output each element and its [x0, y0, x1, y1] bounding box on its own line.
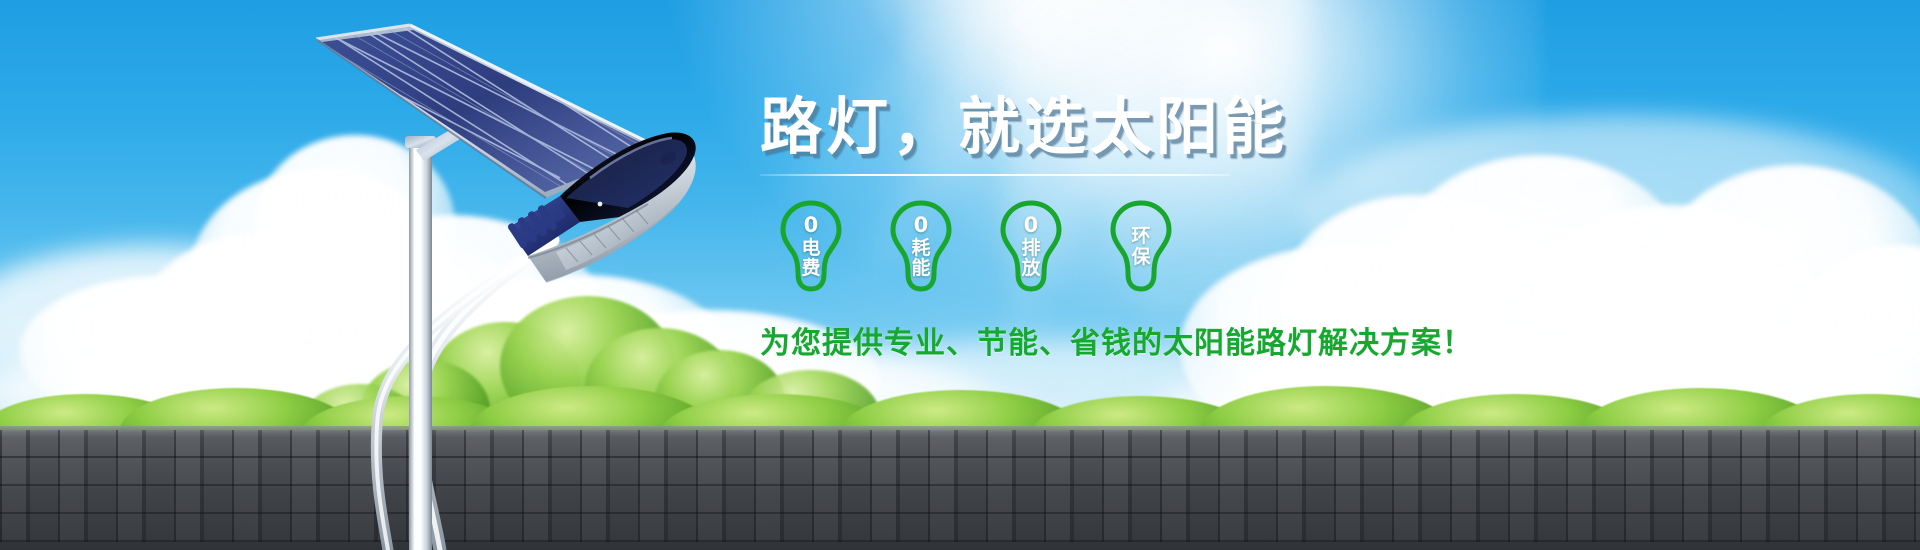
feature-badge: 0 排 放 — [994, 198, 1068, 294]
feature-badge: 0 电 费 — [774, 198, 848, 294]
solar-street-light-banner: 路灯，就选太阳能 0 电 费 0 耗 能 — [0, 0, 1920, 550]
badge-label-top: 排 — [1021, 238, 1040, 258]
badge-label-top: 耗 — [911, 238, 930, 258]
page-title: 路灯，就选太阳能 — [760, 96, 1460, 158]
banner-copy: 路灯，就选太阳能 0 电 费 0 耗 能 — [760, 96, 1460, 362]
feature-badge-text: 0 耗 能 — [911, 214, 930, 278]
title-divider — [760, 174, 1230, 176]
badge-label-top: 环 — [1131, 226, 1150, 246]
badge-zero: 0 — [801, 214, 820, 237]
banner-tagline: 为您提供专业、节能、省钱的太阳能路灯解决方案！ — [760, 318, 1460, 362]
feature-badge-text: 0 排 放 — [1021, 214, 1040, 278]
badge-zero: 0 — [911, 214, 930, 237]
badge-label-bottom: 费 — [801, 258, 820, 278]
badge-label-bottom: 放 — [1021, 258, 1040, 278]
feature-badge: 环 保 — [1104, 198, 1178, 294]
tiled-wall — [0, 430, 1920, 550]
feature-badge: 0 耗 能 — [884, 198, 958, 294]
badge-label-bottom: 能 — [911, 258, 930, 278]
feature-badge-list: 0 电 费 0 耗 能 0 — [760, 198, 1460, 294]
feature-badge-text: 环 保 — [1131, 225, 1150, 266]
badge-label-bottom: 保 — [1131, 247, 1150, 267]
feature-badge-text: 0 电 费 — [801, 214, 820, 278]
badge-label-top: 电 — [801, 238, 820, 258]
badge-zero: 0 — [1021, 214, 1040, 237]
